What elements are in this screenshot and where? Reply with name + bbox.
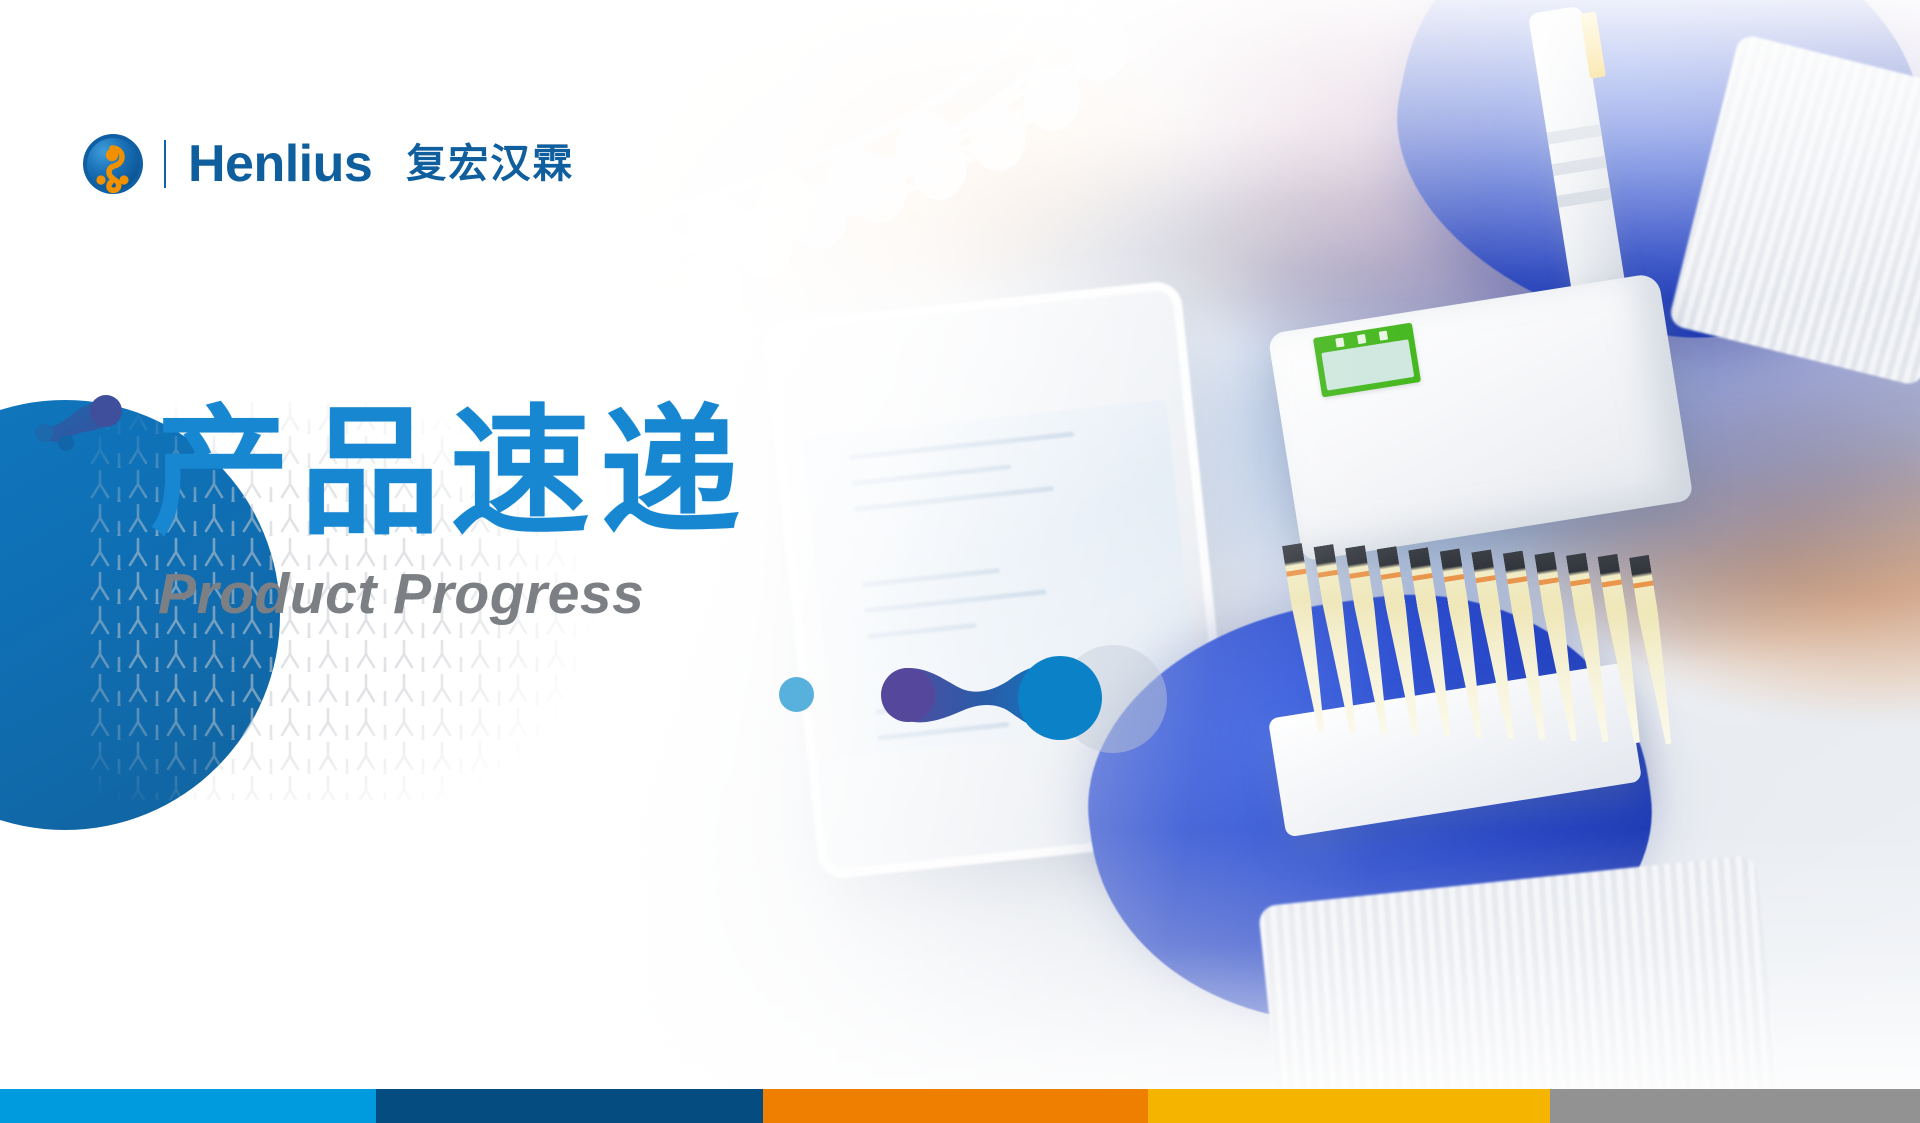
title-block: 产品速递 Product Progress	[150, 398, 750, 626]
accent-dot	[779, 677, 814, 712]
bar-segment-gray	[1550, 1089, 1920, 1123]
page-title-chinese: 产品速递	[150, 398, 750, 549]
henlius-emblem-icon	[82, 133, 144, 195]
page-subtitle-english: Product Progress	[158, 563, 750, 626]
molecule-accent-large	[860, 648, 1120, 744]
logo-chinese-name: 复宏汉霖	[406, 144, 574, 184]
logo-english-name: Henlius	[188, 138, 372, 190]
brand-color-bar	[0, 1089, 1920, 1123]
logo-divider	[164, 140, 166, 188]
bar-segment-dark-blue	[376, 1089, 763, 1123]
molecule-accent-small	[30, 385, 140, 465]
slide-root: Henlius 复宏汉霖 产品速递 Product Progress	[0, 0, 1920, 1123]
bar-segment-yellow	[1148, 1089, 1550, 1123]
henlius-logo[interactable]: Henlius 复宏汉霖	[82, 133, 574, 195]
bar-segment-light-blue	[0, 1089, 376, 1123]
bar-segment-orange	[763, 1089, 1148, 1123]
